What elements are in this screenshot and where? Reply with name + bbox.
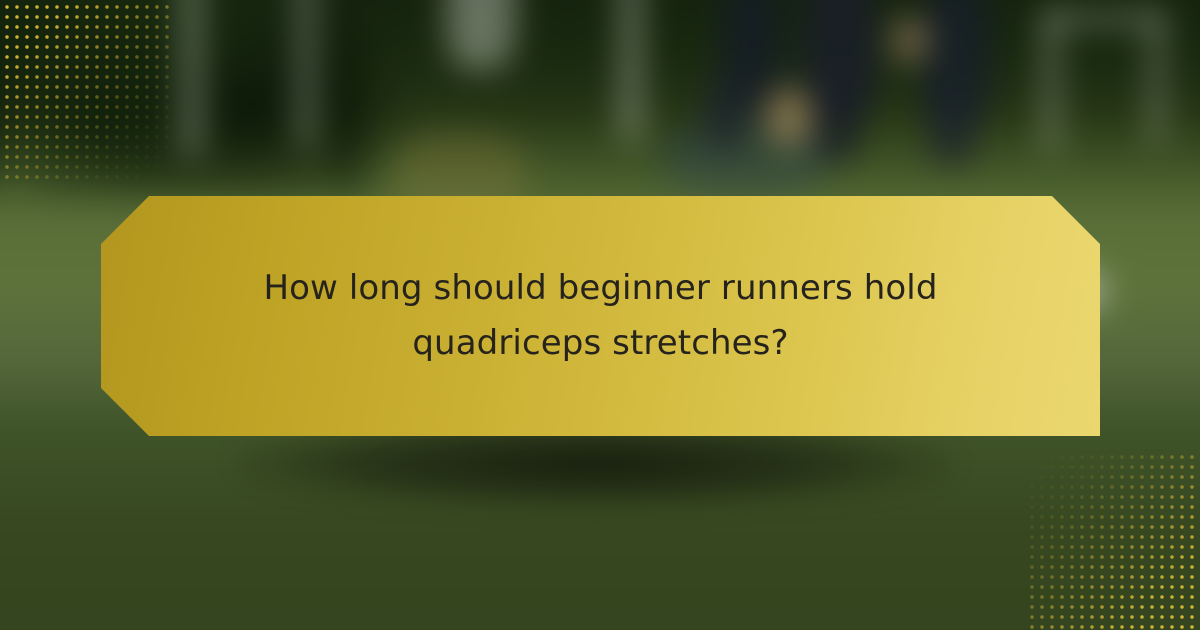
background-treeline [0,0,1200,200]
background-figure-light [446,0,516,70]
goal-post [1150,12,1163,142]
question-card: How long should beginner runners hold qu… [101,196,1100,436]
dot-pattern-bottom-right-icon [1025,450,1200,630]
screenshot-canvas: How long should beginner runners hold qu… [0,0,1200,630]
background-runner-skin [766,88,812,146]
goal-post [1044,10,1058,150]
field-post [298,0,314,145]
question-card-content: How long should beginner runners hold qu… [221,261,981,371]
field-post [182,0,202,155]
background-runner-legs [928,100,976,166]
background-runner-skin [890,16,930,64]
field-post [620,0,642,140]
question-title: How long should beginner runners hold qu… [221,261,981,371]
goal-crossbar [1044,12,1164,25]
dot-pattern-top-left-icon [0,0,175,180]
background-runner-legs [704,80,744,150]
background-runner-legs [814,90,860,162]
